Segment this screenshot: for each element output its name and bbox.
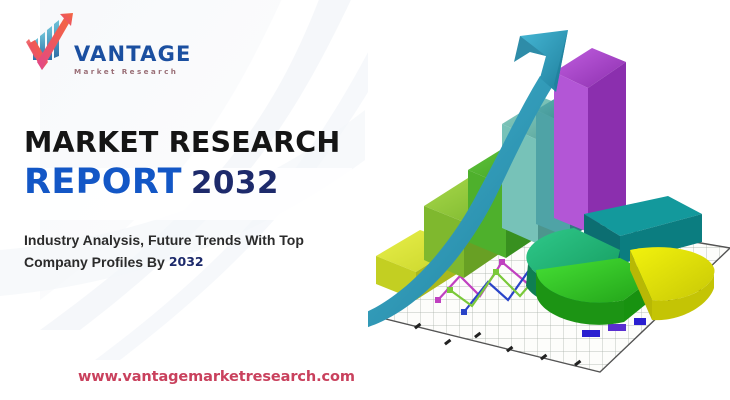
subtitle-year: 2032 xyxy=(169,254,204,269)
bar-chart-checkmark-arrow-logo-icon xyxy=(22,12,78,74)
bar-6 xyxy=(554,48,626,232)
brand-name: VANTAGE xyxy=(74,44,192,65)
brand-tagline: Market Research xyxy=(74,68,192,75)
hero-illustration xyxy=(368,0,730,400)
subtitle-text: Industry Analysis, Future Trends With To… xyxy=(24,232,304,270)
page-title: MARKET RESEARCH REPORT2032 xyxy=(24,128,354,200)
headline-year: 2032 xyxy=(191,165,279,201)
website-url[interactable]: www.vantagemarketresearch.com xyxy=(78,369,355,385)
headline-line-1: MARKET RESEARCH xyxy=(24,128,354,158)
brand-wordmark: VANTAGE Market Research xyxy=(74,44,192,75)
headline-report-word: REPORT xyxy=(24,162,182,202)
report-poster: VANTAGE Market Research MARKET RESEARCH … xyxy=(0,0,730,400)
subtitle: Industry Analysis, Future Trends With To… xyxy=(24,230,334,273)
headline-line-2: REPORT2032 xyxy=(24,165,354,200)
brand-logo[interactable]: VANTAGE Market Research xyxy=(22,12,182,78)
